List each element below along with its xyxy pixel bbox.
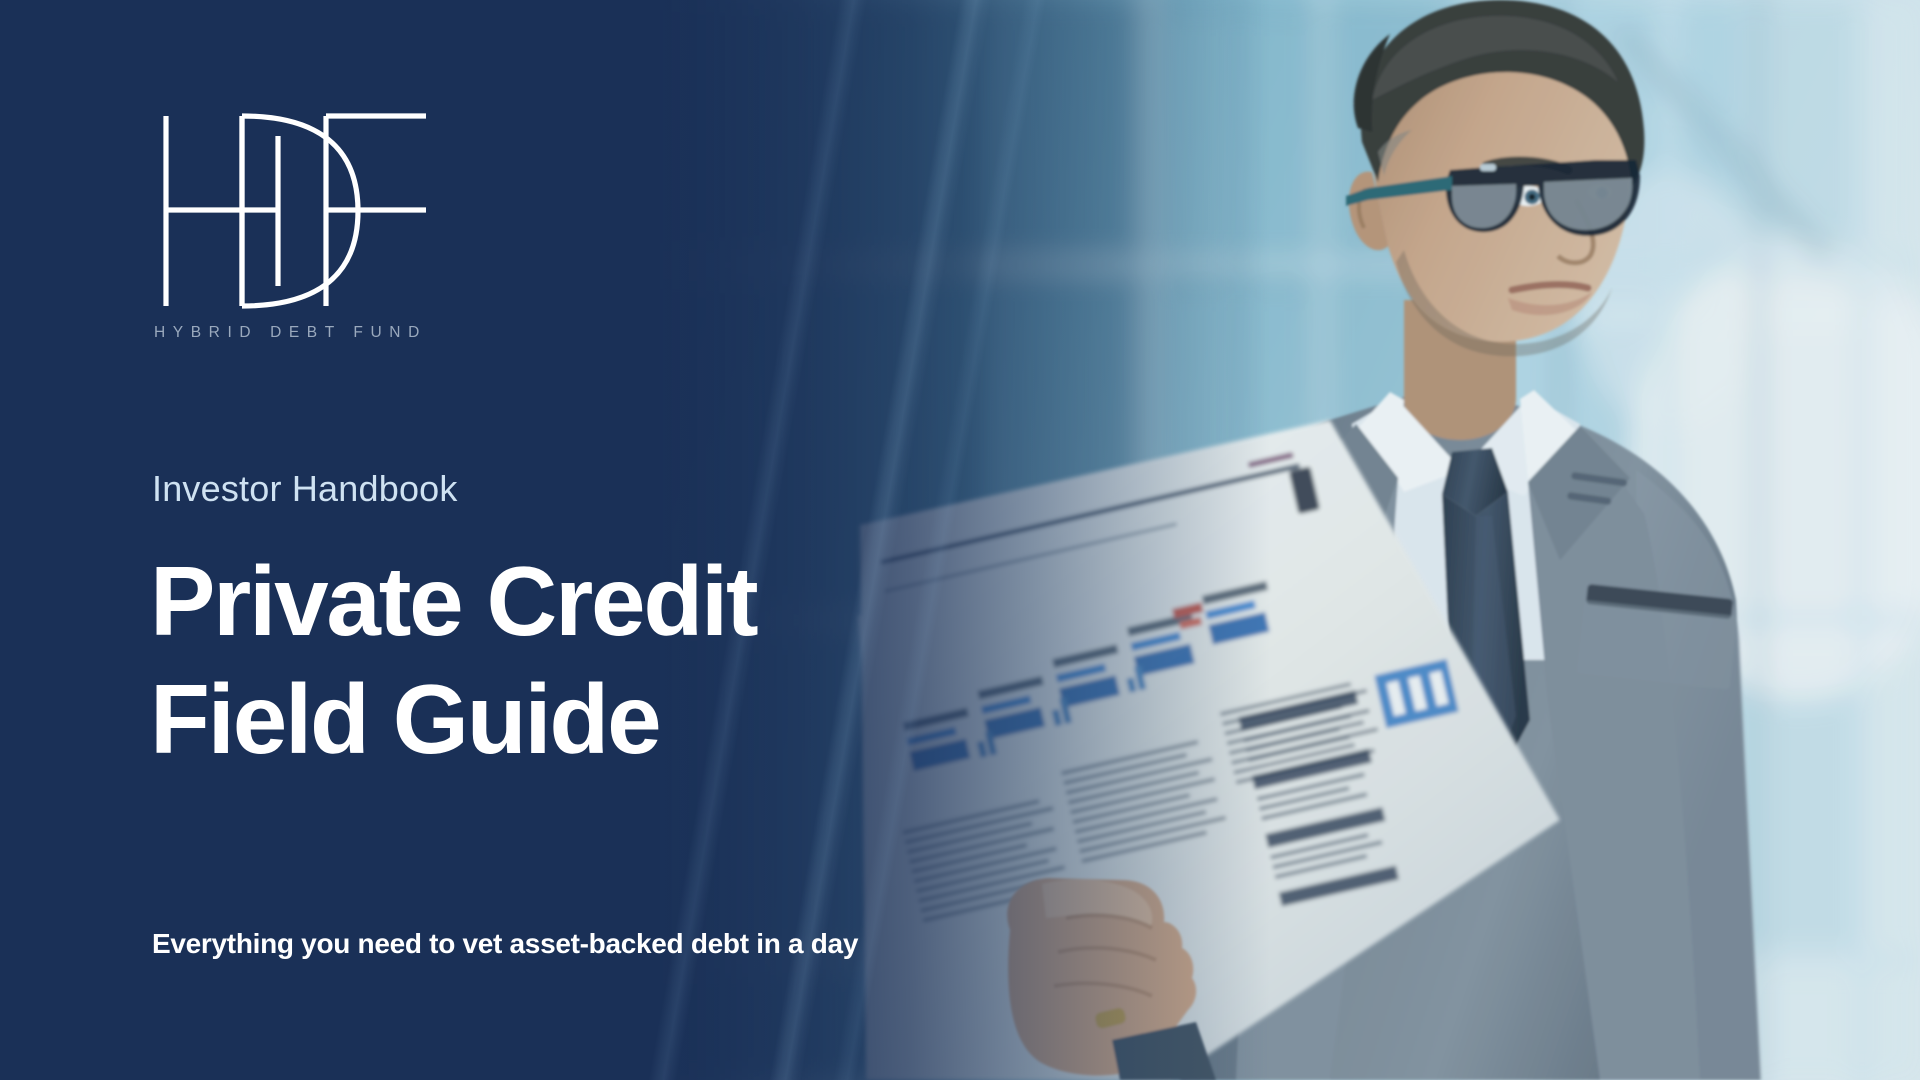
- hdf-monogram-icon: [150, 110, 440, 310]
- navy-gradient-fade: [650, 0, 1270, 1080]
- eyebrow-label: Investor Handbook: [152, 468, 458, 510]
- tagline: Everything you need to vet asset-backed …: [152, 928, 858, 960]
- cover-page: HYBRID DEBT FUND Investor Handbook Priva…: [0, 0, 1920, 1080]
- page-title: Private Credit Field Guide: [150, 542, 756, 778]
- title-line-1: Private Credit: [150, 542, 756, 660]
- brand-logo: HYBRID DEBT FUND: [150, 110, 450, 342]
- title-line-2: Field Guide: [150, 660, 756, 778]
- brand-wordmark: HYBRID DEBT FUND: [150, 324, 450, 342]
